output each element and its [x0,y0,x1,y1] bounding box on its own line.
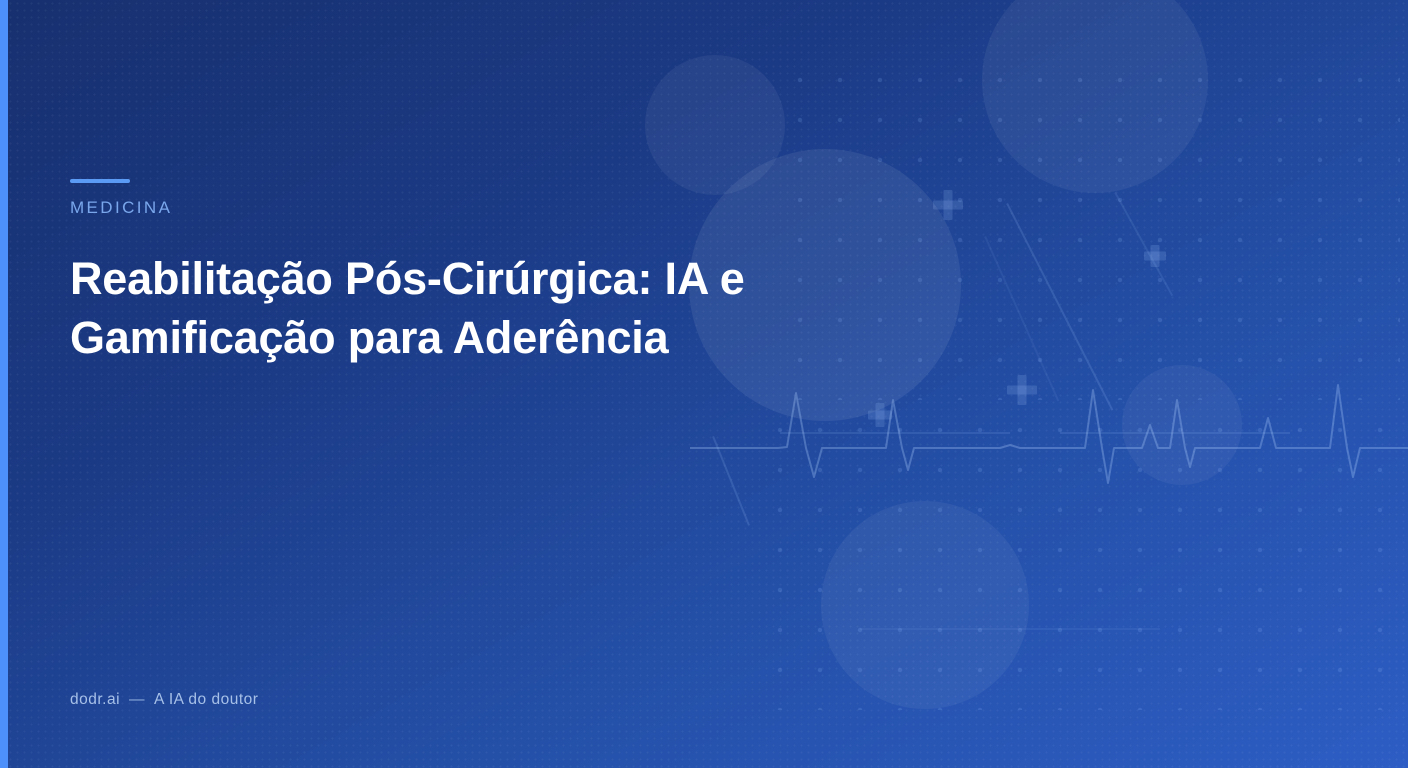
medical-cross-icon [1144,245,1166,267]
slide-canvas: MEDICINA Reabilitação Pós-Cirúrgica: IA … [0,0,1408,768]
decorative-circle [982,0,1208,193]
left-accent-bar [0,0,8,768]
footer-brand: dodr.ai [70,691,120,708]
page-title: Reabilitação Pós-Cirúrgica: IA e Gamific… [70,249,770,368]
kicker-rule [70,179,130,183]
diagonal-line [1115,192,1174,296]
decorative-circle [821,501,1029,709]
category-kicker: MEDICINA [70,198,172,218]
footer: dodr.ai—A IA do doutor [70,691,258,709]
footer-separator: — [129,691,145,709]
dot-grid [780,60,1400,400]
medical-cross-icon [933,190,963,220]
content-block: MEDICINA Reabilitação Pós-Cirúrgica: IA … [70,0,830,768]
guide-line [860,628,1160,630]
footer-tagline: A IA do doutor [154,691,258,708]
